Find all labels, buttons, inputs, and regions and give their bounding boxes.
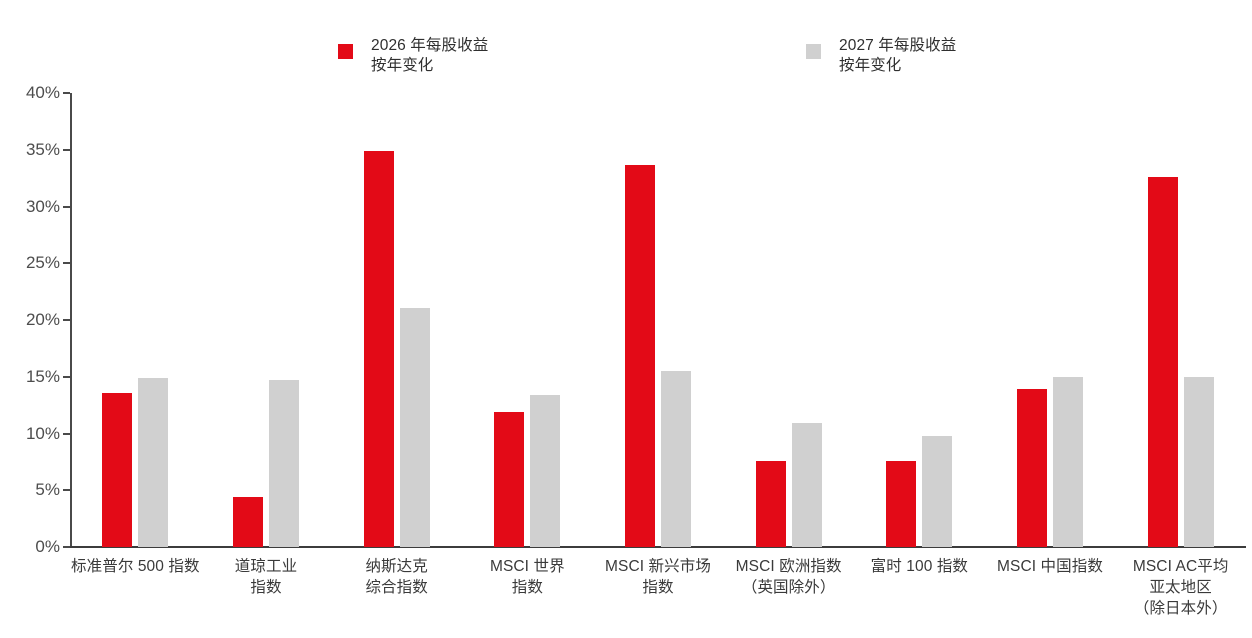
bar-0 bbox=[1017, 389, 1047, 547]
y-axis-tick bbox=[63, 433, 70, 435]
y-axis-tick bbox=[63, 149, 70, 151]
y-axis-tick-label: 25% bbox=[26, 253, 60, 273]
bar-group bbox=[494, 93, 560, 547]
x-axis-label: MSCI 新兴市场 指数 bbox=[589, 556, 728, 598]
legend-label-2026: 2026 年每股收益 按年变化 bbox=[371, 36, 488, 76]
x-axis-label: MSCI 欧洲指数 （英国除外） bbox=[719, 556, 858, 598]
bar-1 bbox=[530, 395, 560, 547]
y-axis-labels: 40%35%30%25%20%15%10%5%0% bbox=[0, 93, 60, 547]
bar-1 bbox=[1184, 377, 1214, 547]
bar-group bbox=[233, 93, 299, 547]
plot-area bbox=[70, 93, 1246, 547]
bar-0 bbox=[233, 497, 263, 547]
bar-1 bbox=[661, 371, 691, 547]
bar-0 bbox=[364, 151, 394, 547]
y-axis-tick-label: 10% bbox=[26, 424, 60, 444]
x-axis-label: 富时 100 指数 bbox=[850, 556, 989, 577]
bar-0 bbox=[494, 412, 524, 547]
y-axis-tick bbox=[63, 489, 70, 491]
bar-group bbox=[102, 93, 168, 547]
legend-item-2026: 2026 年每股收益 按年变化 bbox=[338, 36, 488, 76]
y-axis-tick bbox=[63, 319, 70, 321]
bar-group bbox=[625, 93, 691, 547]
y-axis-tick bbox=[63, 546, 70, 548]
y-axis-tick bbox=[63, 92, 70, 94]
y-axis-tick bbox=[63, 376, 70, 378]
y-axis-tick bbox=[63, 262, 70, 264]
x-axis-label: MSCI AC平均 亚太地区 （除日本外） bbox=[1111, 556, 1250, 619]
y-axis-tick-label: 35% bbox=[26, 140, 60, 160]
bar-0 bbox=[886, 461, 916, 547]
y-axis-tick bbox=[63, 206, 70, 208]
bar-1 bbox=[138, 378, 168, 547]
legend-label-2027: 2027 年每股收益 按年变化 bbox=[839, 36, 956, 76]
bar-1 bbox=[792, 423, 822, 547]
legend-swatch-2026 bbox=[338, 44, 353, 59]
chart-legend: 2026 年每股收益 按年变化 2027 年每股收益 按年变化 bbox=[0, 28, 1252, 86]
bar-1 bbox=[400, 308, 430, 547]
x-axis-label: MSCI 世界 指数 bbox=[458, 556, 597, 598]
bar-1 bbox=[922, 436, 952, 547]
y-axis-tick-label: 30% bbox=[26, 197, 60, 217]
y-axis-tick-label: 40% bbox=[26, 83, 60, 103]
x-axis-label: MSCI 中国指数 bbox=[981, 556, 1120, 577]
bar-0 bbox=[1148, 177, 1178, 547]
x-axis-label: 标准普尔 500 指数 bbox=[66, 556, 205, 577]
bar-group bbox=[1148, 93, 1214, 547]
y-axis-tick-label: 5% bbox=[35, 480, 60, 500]
bar-1 bbox=[1053, 377, 1083, 547]
y-axis-line bbox=[70, 93, 72, 547]
y-axis-tick-label: 20% bbox=[26, 310, 60, 330]
bar-group bbox=[1017, 93, 1083, 547]
bar-group bbox=[364, 93, 430, 547]
bar-chart: 2026 年每股收益 按年变化 2027 年每股收益 按年变化 40%35%30… bbox=[0, 0, 1252, 638]
bar-0 bbox=[756, 461, 786, 547]
bar-0 bbox=[625, 165, 655, 547]
x-axis-category-labels: 标准普尔 500 指数道琼工业 指数纳斯达克 综合指数MSCI 世界 指数MSC… bbox=[70, 556, 1246, 638]
y-axis-tick-label: 15% bbox=[26, 367, 60, 387]
bar-1 bbox=[269, 380, 299, 547]
bar-0 bbox=[102, 393, 132, 547]
legend-swatch-2027 bbox=[806, 44, 821, 59]
bar-group bbox=[756, 93, 822, 547]
bar-group bbox=[886, 93, 952, 547]
y-axis-tick-label: 0% bbox=[35, 537, 60, 557]
x-axis-label: 道琼工业 指数 bbox=[197, 556, 336, 598]
legend-item-2027: 2027 年每股收益 按年变化 bbox=[806, 36, 956, 76]
x-axis-label: 纳斯达克 综合指数 bbox=[327, 556, 466, 598]
